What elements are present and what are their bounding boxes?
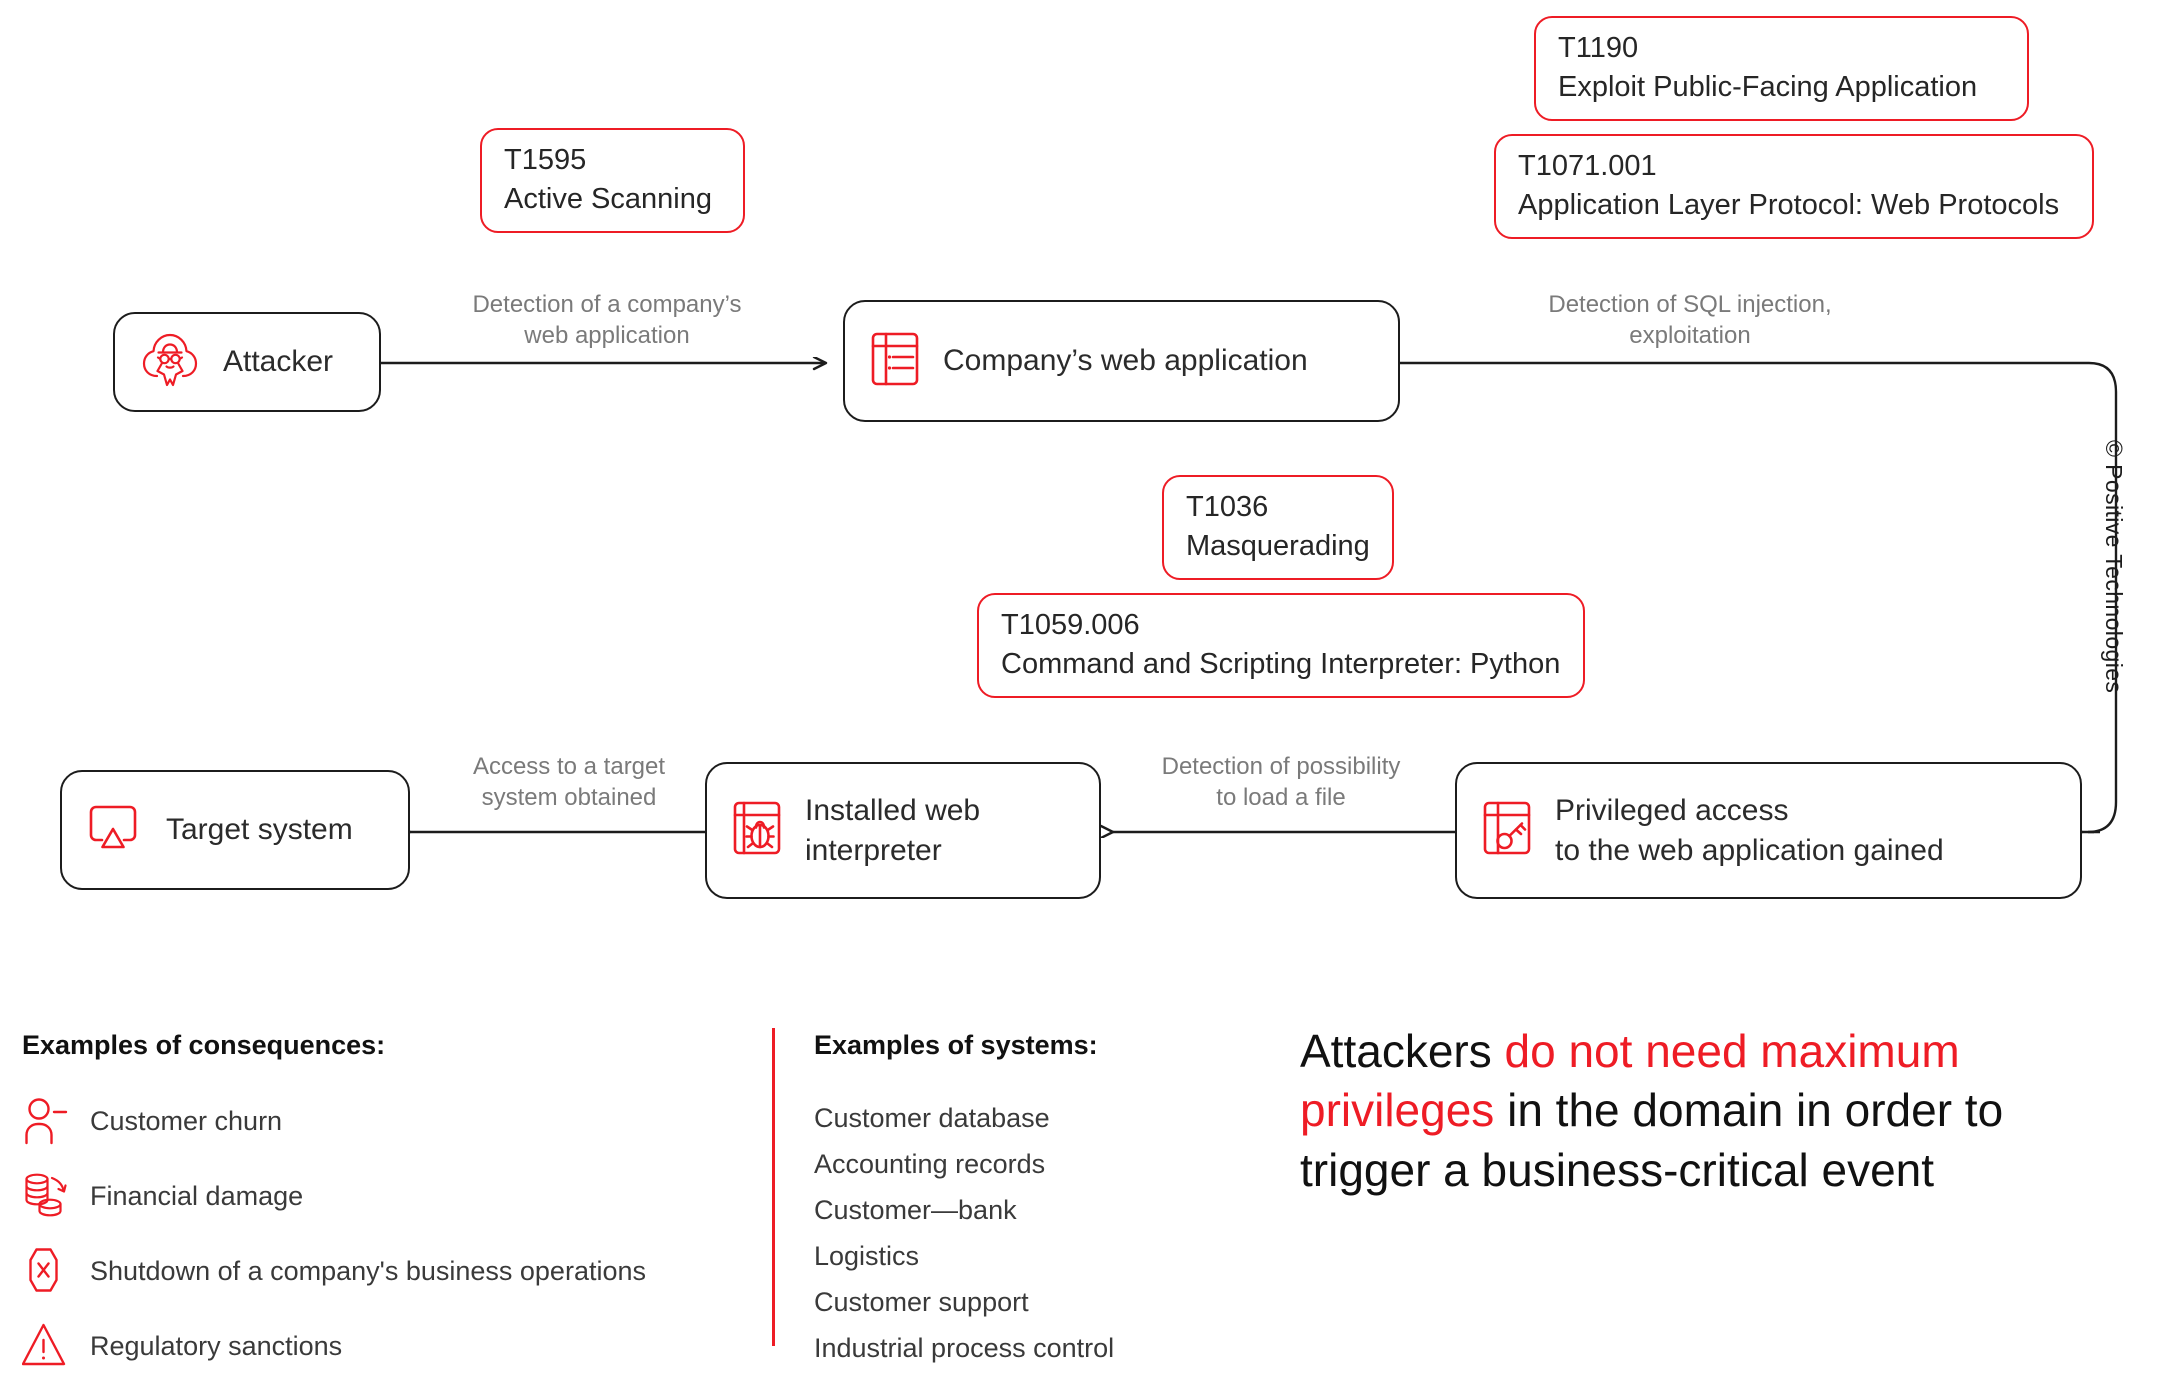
edge-label-access-obtained: Access to a target system obtained — [424, 752, 714, 813]
technique-card-t1059-006[interactable]: T1059.006 Command and Scripting Interpre… — [977, 593, 1585, 698]
edge-label-detection-web-application: Detection of a company’s web application — [402, 290, 812, 351]
consequences-section: Examples of consequences: Customer churn — [22, 1030, 742, 1389]
systems-list: Customer database Accounting records Cus… — [814, 1105, 1152, 1362]
technique-name: Application Layer Protocol: Web Protocol… — [1518, 186, 2070, 224]
web-bug-icon — [729, 798, 785, 863]
systems-title: Examples of systems: — [814, 1030, 1152, 1061]
systems-section: Examples of systems: Customer database A… — [772, 1030, 1152, 1381]
edge-label-detection-sql-injection: Detection of SQL injection, exploitation — [1480, 290, 1900, 351]
flow-node-installed-web-interpreter[interactable]: Installed web interpreter — [705, 762, 1101, 899]
headline-part-1: Attackers — [1300, 1025, 1505, 1077]
list-item: Customer database — [814, 1105, 1152, 1132]
technique-card-t1595[interactable]: T1595 Active Scanning — [480, 128, 745, 233]
technique-id: T1036 — [1186, 488, 1370, 526]
flow-node-company-web-application[interactable]: Company’s web application — [843, 300, 1400, 422]
consequences-list: Customer churn Financial damage — [22, 1089, 742, 1378]
technique-name: Masquerading — [1186, 527, 1370, 565]
flow-node-target-system[interactable]: Target system — [60, 770, 410, 890]
web-application-icon — [867, 329, 923, 394]
headline-highlight-1: do not need maximum — [1505, 1025, 1960, 1077]
list-item: Logistics — [814, 1243, 1152, 1270]
technique-id: T1071.001 — [1518, 147, 2070, 185]
headline-statement: Attackers do not need maximum privileges… — [1300, 1022, 2140, 1200]
monitor-icon — [84, 800, 146, 861]
web-key-icon — [1479, 798, 1535, 863]
user-minus-icon — [22, 1094, 76, 1148]
list-item: Customer support — [814, 1289, 1152, 1316]
consequences-title: Examples of consequences: — [22, 1030, 742, 1061]
technique-card-t1036[interactable]: T1036 Masquerading — [1162, 475, 1394, 580]
flow-node-label: Attacker — [223, 342, 333, 382]
list-item-label: Financial damage — [90, 1181, 303, 1212]
list-item: Customer churn — [22, 1089, 742, 1153]
list-item: Financial damage — [22, 1164, 742, 1228]
octagon-x-icon — [22, 1244, 76, 1298]
edge-label-detection-load-file: Detection of possibility to load a file — [1106, 752, 1456, 813]
flow-node-label: Target system — [166, 810, 353, 850]
list-item: Regulatory sanctions — [22, 1314, 742, 1378]
copyright-notice: © Positive Technologies — [2100, 440, 2127, 693]
list-item: Industrial process control — [814, 1335, 1152, 1362]
coins-down-arrow-icon — [22, 1169, 76, 1223]
flow-node-attacker[interactable]: Attacker — [113, 312, 381, 412]
list-item-label: Customer churn — [90, 1106, 282, 1137]
attacker-cloud-icon — [137, 327, 203, 398]
flow-node-privileged-access[interactable]: Privileged access to the web application… — [1455, 762, 2082, 899]
technique-name: Command and Scripting Interpreter: Pytho… — [1001, 645, 1561, 683]
technique-id: T1059.006 — [1001, 606, 1561, 644]
list-item: Accounting records — [814, 1151, 1152, 1178]
technique-card-t1071-001[interactable]: T1071.001 Application Layer Protocol: We… — [1494, 134, 2094, 239]
list-item: Shutdown of a company's business operati… — [22, 1239, 742, 1303]
technique-name: Active Scanning — [504, 180, 721, 218]
technique-name: Exploit Public-Facing Application — [1558, 68, 2005, 106]
flow-node-label: Installed web interpreter — [805, 791, 980, 870]
warning-triangle-icon — [22, 1319, 76, 1373]
diagram-canvas: T1595 Active Scanning T1190 Exploit Publ… — [0, 0, 2179, 1374]
systems-divider — [772, 1028, 775, 1346]
technique-id: T1595 — [504, 141, 721, 179]
list-item-label: Shutdown of a company's business operati… — [90, 1256, 646, 1287]
flow-node-label: Privileged access to the web application… — [1555, 791, 1944, 870]
flow-node-label: Company’s web application — [943, 341, 1308, 381]
list-item-label: Regulatory sanctions — [90, 1331, 342, 1362]
list-item: Customer—bank — [814, 1197, 1152, 1224]
headline-highlight-2: privileges — [1300, 1084, 1494, 1136]
technique-id: T1190 — [1558, 29, 2005, 67]
technique-card-t1190[interactable]: T1190 Exploit Public-Facing Application — [1534, 16, 2029, 121]
